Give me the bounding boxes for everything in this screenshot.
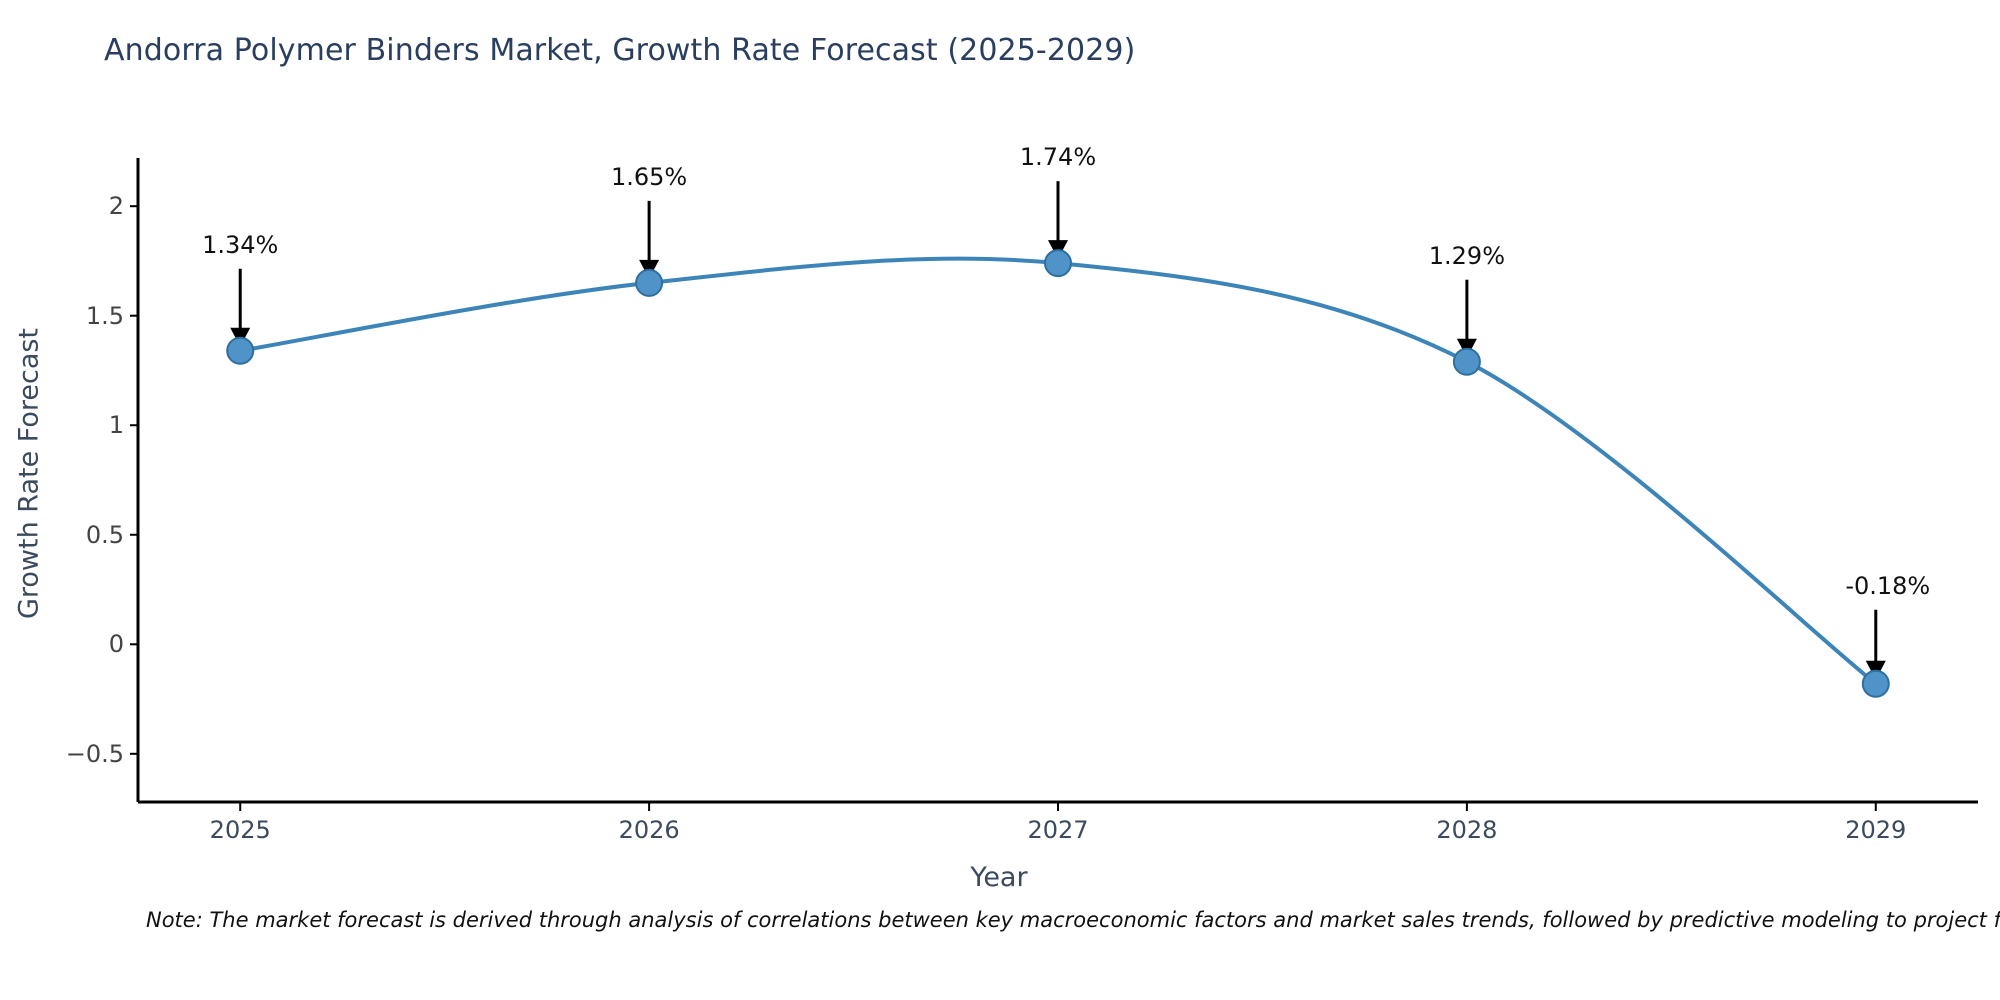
chart-footnote: Note: The market forecast is derived thr…	[146, 908, 2000, 932]
data-point-marker[interactable]	[636, 270, 662, 296]
plot-canvas	[0, 0, 2000, 1000]
data-point-marker[interactable]	[1045, 250, 1071, 276]
chart-figure: Andorra Polymer Binders Market, Growth R…	[0, 0, 2000, 1000]
data-point-marker[interactable]	[1863, 671, 1889, 697]
data-point-marker[interactable]	[1454, 349, 1480, 375]
data-point-marker[interactable]	[227, 338, 253, 364]
forecast-line	[240, 259, 1876, 684]
data-point-markers	[227, 250, 1889, 697]
